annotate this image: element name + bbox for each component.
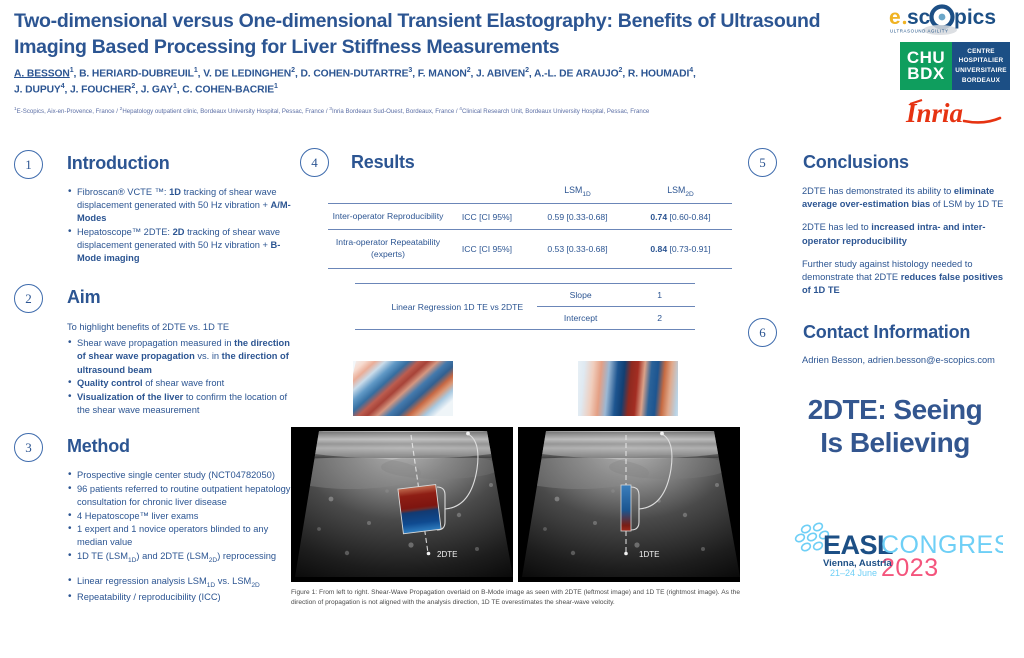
figure-label-1dte: 1DTE [639,550,659,559]
row-label: Inter-operator Reproducibility [328,203,448,230]
section-title: Conclusions [803,152,909,173]
figure-label-2dte: 2DTE [437,550,457,559]
section-title: Method [67,436,130,457]
list-item: 1D TE (LSM1D) and 2DTE (LSM2D) reprocess… [67,550,294,565]
regression-value: 2 [624,307,695,330]
section-number-badge: 2 [14,284,43,313]
regression-key: Slope [537,284,624,307]
row-metric: ICC [CI 95%] [448,203,526,230]
results-table: LSM1D LSM2D Inter-operator Reproducibili… [328,178,732,269]
ultrasound-figure: 2DTE [291,427,740,582]
section-aim: 2 Aim To highlight benefits of 2DTE vs. … [14,284,294,418]
table-row: Inter-operator Reproducibility ICC [CI 9… [328,203,732,230]
conclusion-paragraph: 2DTE has demonstrated its ability to eli… [802,185,1012,211]
section-title: Contact Information [803,322,970,343]
svg-text:ULTRASOUND AGILITY: ULTRASOUND AGILITY [890,29,949,34]
section-number-badge: 1 [14,150,43,179]
regression-value: 1 [624,284,695,307]
list-item: Prospective single center study (NCT0478… [67,469,294,482]
table-row: Intra-operator Repeatability (experts) I… [328,230,732,268]
list-item: 1 expert and 1 novice operators blinded … [67,523,294,549]
shear-wave-map-1dte [578,361,678,416]
conclusion-paragraph: Further study against histology needed t… [802,258,1012,298]
section-number-badge: 4 [300,148,329,177]
section-title: Introduction [67,153,170,174]
author-line-1: A. BESSON1, B. HERIARD-DUBREUIL1, V. DE … [14,66,876,82]
regression-table: Linear Regression 1D TE vs 2DTE Slope 1 … [355,283,695,330]
svg-text:sc: sc [907,6,931,29]
chu-fullname: CENTRE HOSPITALIER UNIVERSITAIRE BORDEAU… [952,42,1010,90]
easl-congress-logo: EASL CONGRESS 2023 Vienna, Austria 21–24… [793,521,1003,579]
row-metric: ICC [CI 95%] [448,230,526,268]
introduction-body: Fibroscan® VCTE ™: 1D tracking of shear … [67,186,294,266]
escopics-logo: e sc pics ULTRASOUND AGILITY [888,4,1016,38]
cell-lsm2d: 0.74 [0.60-0.84] [629,203,732,230]
chu-bordeaux-logo: CHU BDX CENTRE HOSPITALIER UNIVERSITAIRE… [900,42,1010,90]
page-title: Two-dimensional versus One-dimensional T… [14,8,874,60]
svg-text:pics: pics [954,6,996,29]
aim-intro: To highlight benefits of 2DTE vs. 1D TE [67,321,294,334]
list-item: Hepatoscope™ 2DTE: 2D tracking of shear … [67,226,294,266]
list-item: 96 patients referred to routine outpatie… [67,483,294,509]
cell-lsm1d: 0.59 [0.33-0.68] [526,203,629,230]
section-introduction: 1 Introduction Fibroscan® VCTE ™: 1D tra… [14,150,294,266]
cell-lsm1d: 0.53 [0.33-0.68] [526,230,629,268]
section-title: Results [351,152,415,173]
section-number-badge: 5 [748,148,777,177]
list-item: Shear wave propagation measured in the d… [67,337,294,377]
author-line-2: J. DUPUY4, J. FOUCHER2, J. GAY1, C. COHE… [14,82,876,98]
chu-line-2: BDX [907,66,944,82]
tagline-line-1: 2DTE: Seeing [770,393,1020,426]
section-number-badge: 6 [748,318,777,347]
figure-caption: Figure 1: From left to right. Shear-Wave… [291,588,740,607]
section-results: 4 Results [300,148,415,177]
row-label: Intra-operator Repeatability (experts) [328,230,448,268]
section-number-badge: 3 [14,433,43,462]
conclusion-paragraph: 2DTE has led to increased intra- and int… [802,221,1012,247]
easl-dates: 21–24 June [830,568,877,578]
list-item: Linear regression analysis LSM1D vs. LSM… [67,575,294,590]
inria-logo: Inria [902,96,1008,130]
tagline-line-2: Is Believing [770,426,1020,459]
contact-email[interactable]: Adrien Besson, adrien.besson@e-scopics.c… [802,354,1012,367]
column-header-lsm1d: LSM1D [526,178,629,203]
cell-lsm2d: 0.84 [0.73-0.91] [629,230,732,268]
poster-canvas: Two-dimensional versus One-dimensional T… [0,0,1024,658]
column-header-lsm2d: LSM2D [629,178,732,203]
svg-text:e: e [889,6,901,29]
table-row: Linear Regression 1D TE vs 2DTE Slope 1 [355,284,695,307]
section-title: Aim [67,287,100,308]
section-method: 3 Method Prospective single center study… [14,433,294,605]
tagline: 2DTE: Seeing Is Believing [770,393,1020,459]
regression-label: Linear Regression 1D TE vs 2DTE [355,284,537,330]
shear-wave-map-2dte [353,361,453,416]
author-list: A. BESSON1, B. HERIARD-DUBREUIL1, V. DE … [14,66,876,98]
list-item: Repeatability / reproducibility (ICC) [67,591,294,604]
chu-acronym: CHU BDX [900,42,952,90]
section-contact: 6 Contact Information Adrien Besson, adr… [748,318,1012,367]
list-item: Visualization of the liver to confirm th… [67,391,294,417]
method-body: Prospective single center study (NCT0478… [67,469,294,604]
list-item: Fibroscan® VCTE ™: 1D tracking of shear … [67,186,294,226]
list-item: Quality control of shear wave front [67,377,294,390]
regression-key: Intercept [537,307,624,330]
affiliations: 1E-Scopics, Aix-en-Provence, France / 2H… [14,107,894,116]
aim-body: To highlight benefits of 2DTE vs. 1D TE … [67,321,294,417]
list-item: 4 Hepatoscope™ liver exams [67,510,294,523]
section-conclusions: 5 Conclusions 2DTE has demonstrated its … [748,148,1012,307]
conclusions-body: 2DTE has demonstrated its ability to eli… [802,185,1012,297]
